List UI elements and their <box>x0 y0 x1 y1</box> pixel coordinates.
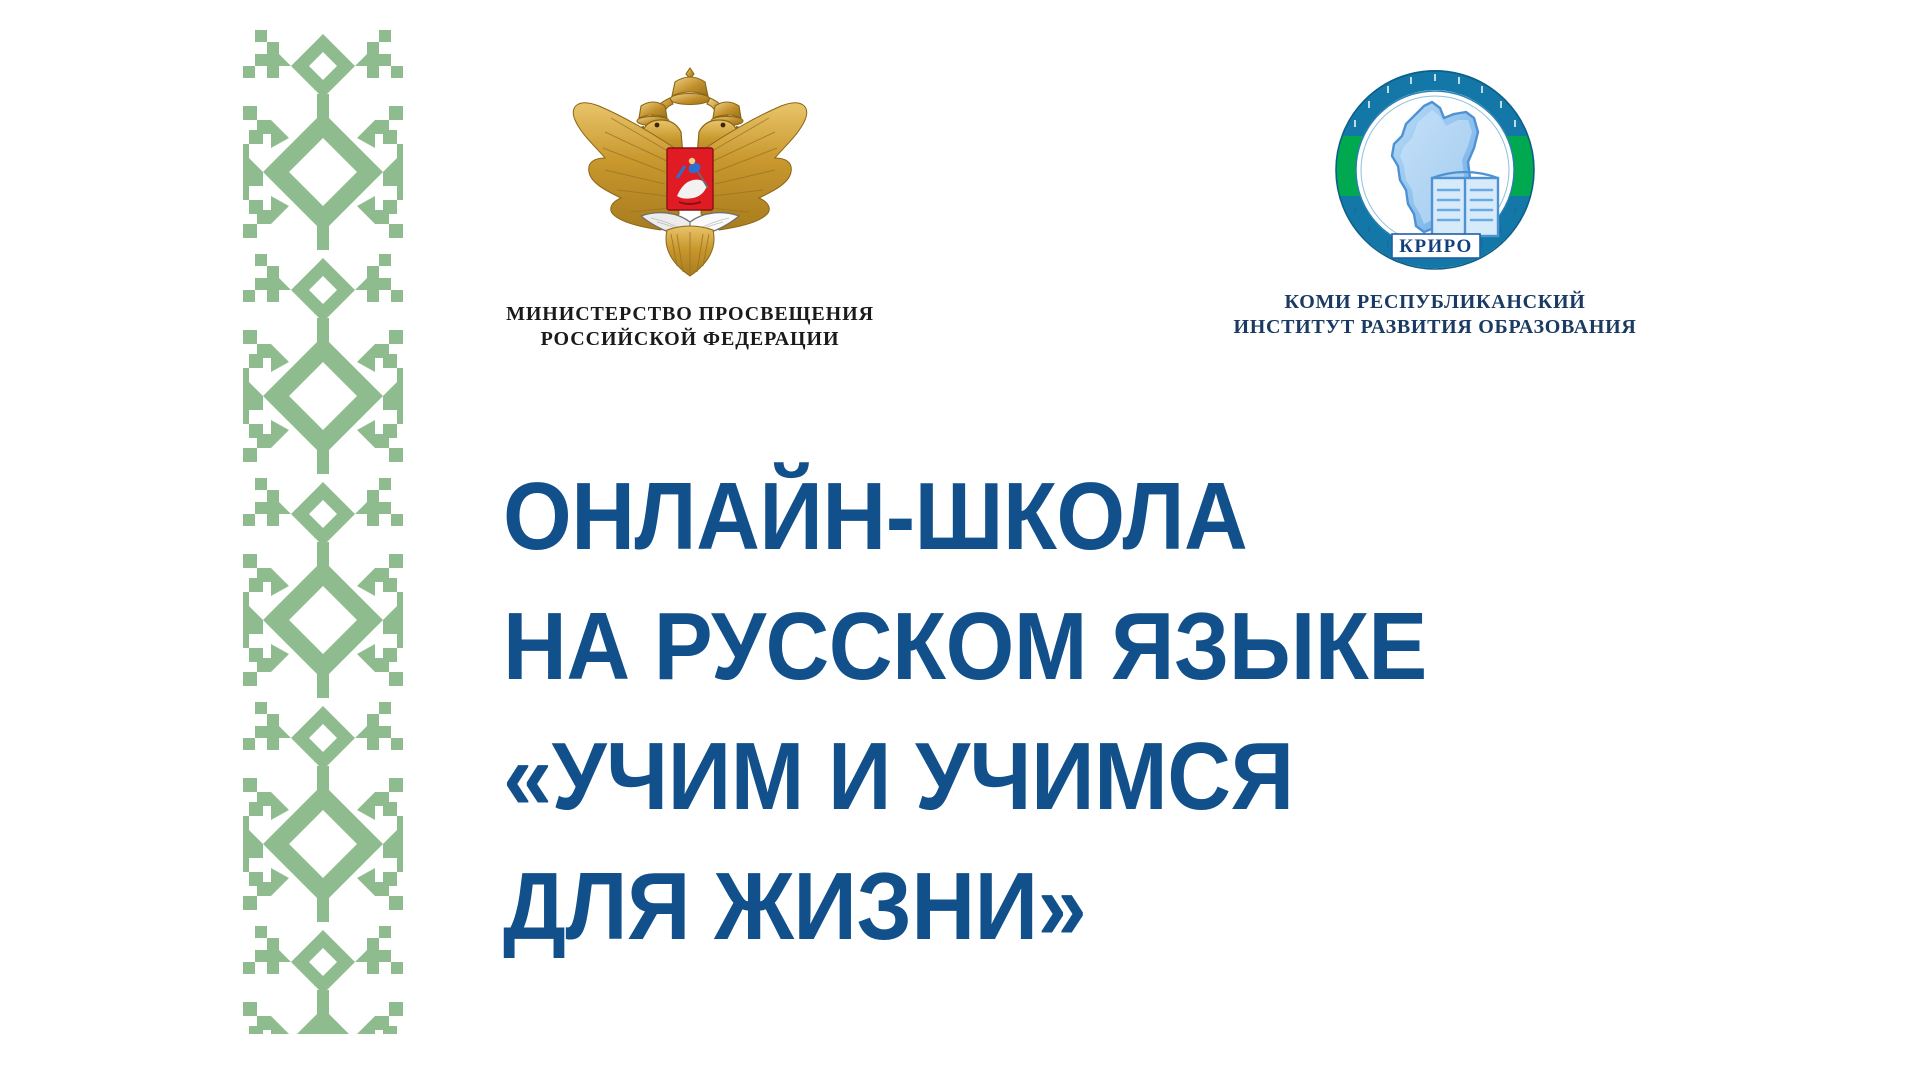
ministry-emblem-block: МИНИСТЕРСТВО ПРОСВЕЩЕНИЯ РОССИЙСКОЙ ФЕДЕ… <box>455 62 925 352</box>
headline-line-1: ОНЛАЙН-ШКОЛА <box>503 452 1515 582</box>
page-title: ОНЛАЙН-ШКОЛА НА РУССКОМ ЯЗЫКЕ «УЧИМ И УЧ… <box>503 452 1603 972</box>
headline-line-2: НА РУССКОМ ЯЗЫКЕ <box>503 582 1515 712</box>
kriro-caption-line-1: КОМИ РЕСПУБЛИКАНСКИЙ <box>1200 290 1670 315</box>
ministry-caption: МИНИСТЕРСТВО ПРОСВЕЩЕНИЯ РОССИЙСКОЙ ФЕДЕ… <box>455 302 925 352</box>
russian-double-headed-eagle-emblem <box>565 62 815 294</box>
ministry-caption-line-1: МИНИСТЕРСТВО ПРОСВЕЩЕНИЯ <box>455 302 925 327</box>
komi-ornament-band <box>243 26 403 1034</box>
kriro-caption-line-2: ИНСТИТУТ РАЗВИТИЯ ОБРАЗОВАНИЯ <box>1200 315 1670 340</box>
kriro-seal-label: КРИРО <box>1399 236 1472 257</box>
kriro-circular-seal-emblem: КРИРО <box>1328 62 1543 282</box>
poster-canvas: МИНИСТЕРСТВО ПРОСВЕЩЕНИЯ РОССИЙСКОЙ ФЕДЕ… <box>0 0 1920 1080</box>
headline-line-4: ДЛЯ ЖИЗНИ» <box>503 842 1515 972</box>
ministry-caption-line-2: РОССИЙСКОЙ ФЕДЕРАЦИИ <box>455 327 925 352</box>
kriro-caption: КОМИ РЕСПУБЛИКАНСКИЙ ИНСТИТУТ РАЗВИТИЯ О… <box>1200 290 1670 340</box>
headline-line-3: «УЧИМ И УЧИМСЯ <box>503 712 1515 842</box>
kriro-emblem-block: КРИРО КОМИ РЕСПУБЛИКАНСКИЙ ИНСТИТУТ РАЗВ… <box>1200 62 1670 340</box>
